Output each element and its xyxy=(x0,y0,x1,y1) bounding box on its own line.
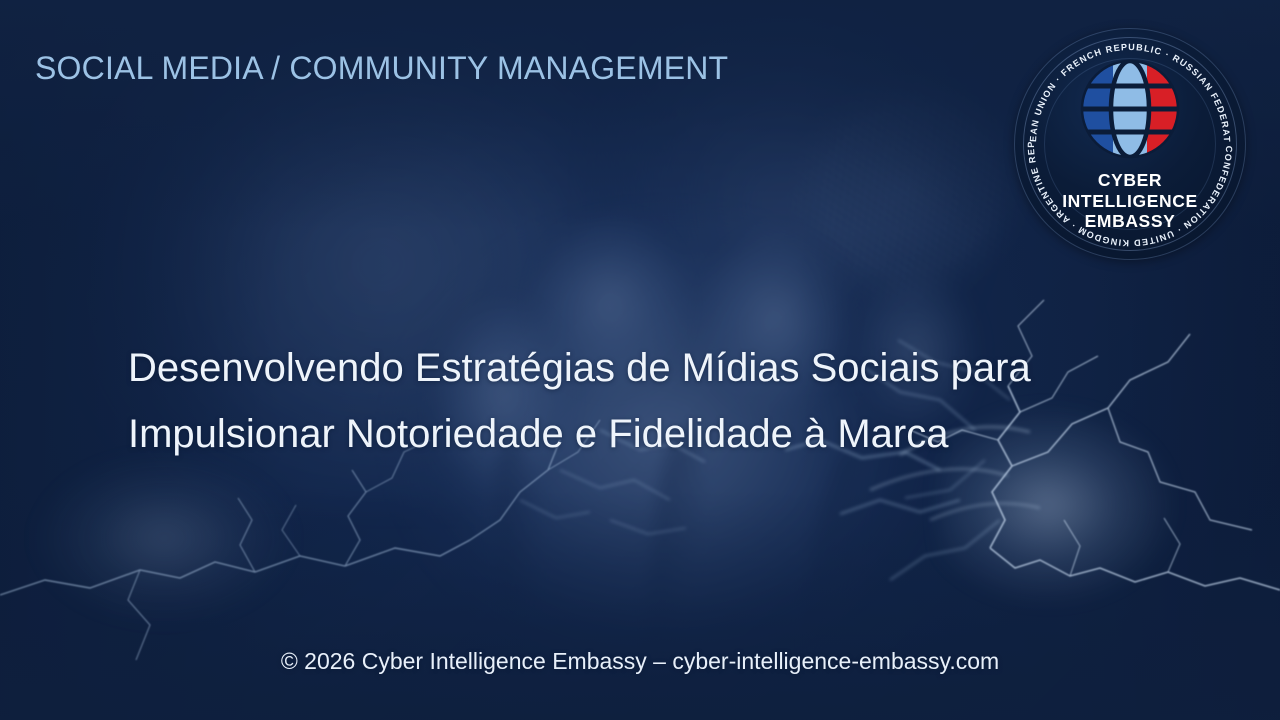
slide-title-line-1: Desenvolvendo Estratégias de Mídias Soci… xyxy=(128,335,1108,401)
seal-organization-name: CYBER INTELLIGENCE EMBASSY xyxy=(1014,170,1246,232)
seal-name-line-1: CYBER xyxy=(1014,170,1246,191)
slide-title: Desenvolvendo Estratégias de Mídias Soci… xyxy=(128,335,1108,467)
slide-category-label: SOCIAL MEDIA / COMMUNITY MANAGEMENT xyxy=(35,50,728,87)
seal-name-line-3: EMBASSY xyxy=(1014,211,1246,232)
cyber-intelligence-embassy-logo[interactable]: UNITED STATES OF AMERICA · EUROPEAN UNIO… xyxy=(1014,28,1246,260)
globe-icon xyxy=(1077,56,1183,162)
slide-title-line-2: Impulsionar Notoriedade e Fidelidade à M… xyxy=(128,401,1108,467)
presentation-slide: SOCIAL MEDIA / COMMUNITY MANAGEMENT Dese… xyxy=(0,0,1280,720)
seal-name-line-2: INTELLIGENCE xyxy=(1014,191,1246,212)
slide-footer-copyright: © 2026 Cyber Intelligence Embassy – cybe… xyxy=(0,648,1280,675)
